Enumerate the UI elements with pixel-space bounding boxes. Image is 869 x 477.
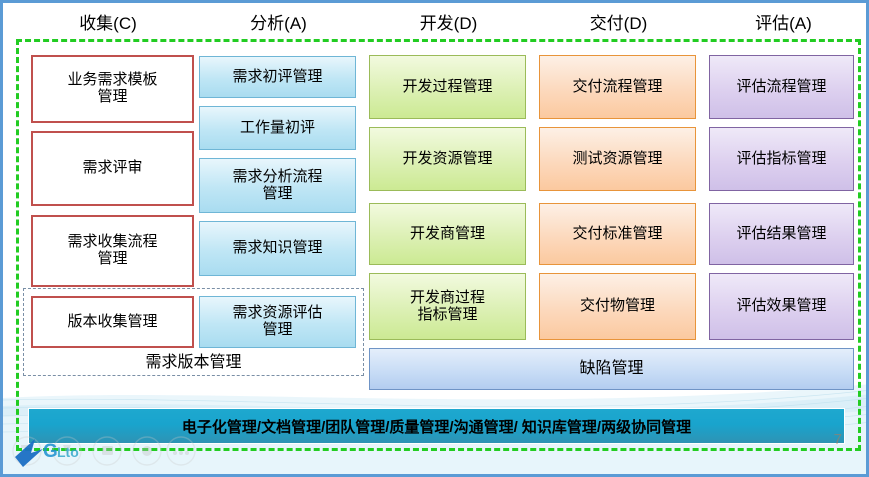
version-management-group-label: 需求版本管理 xyxy=(23,352,364,374)
card-development-process-management[interactable]: 开发过程管理 xyxy=(369,55,526,119)
card-requirement-review[interactable]: 需求评审 xyxy=(31,131,194,206)
column-header-deliver: 交付(D) xyxy=(536,11,701,37)
card-deliverable-management[interactable]: 交付物管理 xyxy=(539,273,696,340)
card-test-resource-management[interactable]: 测试资源管理 xyxy=(539,127,696,191)
card-development-resource-management[interactable]: 开发资源管理 xyxy=(369,127,526,191)
card-version-collection-management[interactable]: 版本收集管理 xyxy=(31,296,194,348)
cross-cutting-capabilities-bar: 电子化管理/文档管理/团队管理/质量管理/沟通管理/ 知识库管理/两级协同管理 xyxy=(28,408,845,444)
card-delivery-process-management[interactable]: 交付流程管理 xyxy=(539,55,696,119)
column-header-develop: 开发(D) xyxy=(366,11,531,37)
card-requirement-analysis-process-management[interactable]: 需求分析流程 管理 xyxy=(199,158,356,213)
column-header-evaluate: 评估(A) xyxy=(706,11,861,37)
column-header-collect: 收集(C) xyxy=(23,11,193,37)
card-requirement-knowledge-management[interactable]: 需求知识管理 xyxy=(199,221,356,276)
card-workload-preliminary-estimate[interactable]: 工作量初评 xyxy=(199,106,356,150)
card-requirement-preliminary-review-management[interactable]: 需求初评管理 xyxy=(199,56,356,98)
card-defect-management[interactable]: 缺陷管理 xyxy=(369,348,854,390)
slide-canvas: 收集(C) 分析(A) 开发(D) 交付(D) 评估(A) 需求版本管理 业务需… xyxy=(0,0,869,477)
page-number: 7 xyxy=(834,431,842,448)
card-developer-process-metric-management[interactable]: 开发商过程 指标管理 xyxy=(369,273,526,340)
card-evaluation-process-management[interactable]: 评估流程管理 xyxy=(709,55,854,119)
card-delivery-standard-management[interactable]: 交付标准管理 xyxy=(539,203,696,265)
card-requirement-collection-process-management[interactable]: 需求收集流程 管理 xyxy=(31,215,194,287)
card-evaluation-result-management[interactable]: 评估结果管理 xyxy=(709,203,854,265)
card-evaluation-effect-management[interactable]: 评估效果管理 xyxy=(709,273,854,340)
card-business-requirement-template-management[interactable]: 业务需求模板 管理 xyxy=(31,55,194,123)
card-developer-management[interactable]: 开发商管理 xyxy=(369,203,526,265)
column-header-analyze: 分析(A) xyxy=(196,11,361,37)
card-requirement-resource-evaluation-management[interactable]: 需求资源评估 管理 xyxy=(199,296,356,348)
card-evaluation-metric-management[interactable]: 评估指标管理 xyxy=(709,127,854,191)
